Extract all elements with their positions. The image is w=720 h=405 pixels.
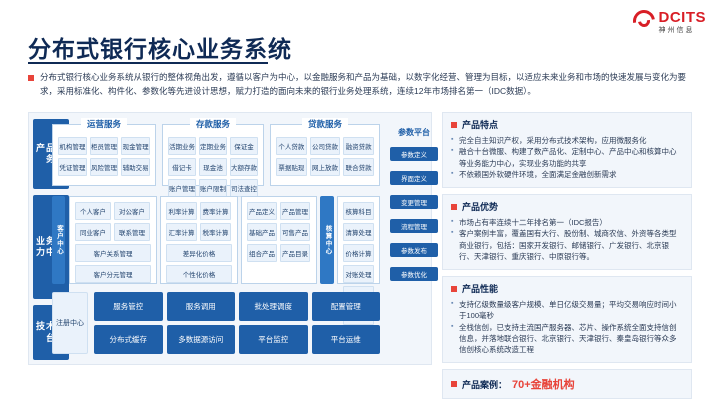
advantage-item: 市场占有率连续十二年排名第一（IDC报告）	[451, 217, 683, 228]
capability-cell: 对公客户	[114, 202, 150, 220]
accounting-center-rail: 核算中心	[320, 196, 334, 284]
zone-cell: 风险管理	[90, 158, 119, 176]
capability-cell: 个人客户	[75, 202, 111, 220]
zone-cell: 融资贷款	[343, 137, 374, 155]
lead-text: 分布式银行核心业务系统从银行的整体视角出发，遵循以客户为中心，以金融服务和产品为…	[40, 70, 692, 98]
zone-cell: 辅助交易	[121, 158, 150, 176]
zone-cell: 司法查控	[230, 179, 258, 197]
feature-item: 不依赖国外软硬件环境，全面满足金融创新需求	[451, 169, 683, 180]
capability-cell: 产品管理	[280, 202, 310, 220]
section-bullet-icon	[451, 204, 457, 210]
zone-operation-service: 运营服务 机构管理 柜员管理 现金管理 凭证管理 风险管理 辅助交易	[52, 124, 156, 186]
capability-cell: 产品定义	[247, 202, 277, 220]
case-title: 产品案例：	[462, 378, 507, 391]
section-product-features: 产品特点 完全自主知识产权，采用分布式技术架构，应用微服务化 融合十台微服、构建…	[442, 112, 692, 188]
platform-button-define-param[interactable]: 参数定义	[390, 147, 438, 161]
brand-name-cn: 神州信息	[659, 27, 707, 34]
capability-cell: 客户关系管理	[75, 244, 151, 262]
zone-cell: 个人贷款	[276, 137, 307, 155]
zone-cell: 柜员管理	[90, 137, 119, 155]
dcits-logo-icon	[633, 10, 655, 32]
zone-cell: 大额存款	[230, 158, 258, 176]
section-bullet-icon	[451, 286, 457, 292]
section-product-cases: 产品案例： 70+金融机构	[442, 369, 692, 399]
section-title: 产品性能	[462, 282, 498, 295]
title-underline	[28, 62, 268, 64]
capability-band: 客户中心 个人客户 对公客户 同业客户 联系管理 客户关系管理 客户分元管理 利…	[52, 196, 380, 284]
zone-cell: 账户限制	[199, 179, 227, 197]
capability-cell: 组合产品	[247, 244, 277, 262]
tech-cell[interactable]: 服务调用	[167, 292, 236, 321]
lead-paragraph: 分布式银行核心业务系统从银行的整体视角出发，遵循以客户为中心，以金融服务和产品为…	[28, 70, 692, 98]
zone-title: 存款服务	[190, 118, 236, 130]
zone-cell: 定期业务	[199, 137, 227, 155]
right-info-column: 产品特点 完全自主知识产权，采用分布式技术架构，应用微服务化 融合十台微服、构建…	[442, 112, 692, 399]
capability-cell: 清算处理	[343, 223, 374, 241]
capability-cell: 联系管理	[114, 223, 150, 241]
zone-cell: 网上放款	[310, 158, 341, 176]
zone-loan-service: 贷款服务 个人贷款 公司贷款 融资贷款 票据贴现 网上放款 联合贷款	[270, 124, 380, 186]
case-value: 70+金融机构	[512, 376, 575, 392]
feature-item: 融合十台微服、构建了数产品化、定制中心、产品中心和核算中心等业务能力中心，实现业…	[451, 146, 683, 169]
capability-cell: 费率计算	[200, 202, 231, 220]
capability-cell: 同业客户	[75, 223, 111, 241]
capability-cell: 客户分元管理	[75, 265, 151, 283]
capability-group-accounting: 核算科目 清算处理 价格计算 对账处理 余额管理 月结分析	[337, 196, 380, 284]
capability-group-customer: 个人客户 对公客户 同业客户 联系管理 客户关系管理 客户分元管理	[69, 196, 157, 284]
page-title: 分布式银行核心业务系统	[28, 30, 292, 64]
section-bullet-icon	[451, 381, 457, 387]
feature-item: 完全自主知识产权，采用分布式技术架构，应用微服务化	[451, 135, 683, 146]
capability-group-product: 产品定义 产品管理 基础产品 可售产品 组合产品 产品目录	[241, 196, 317, 284]
zone-cell: 机构管理	[58, 137, 87, 155]
capability-cell: 汇率计算	[166, 223, 197, 241]
tech-platform-band: 注册中心 服务管控 服务调用 批处理调度 配置管理 分布式缓存 多数据源访问 平…	[52, 292, 380, 354]
section-product-advantages: 产品优势 市场占有率连续十二年排名第一（IDC报告） 客户案例丰富，覆盖国有大行…	[442, 194, 692, 270]
zone-title: 运营服务	[81, 118, 127, 130]
zone-cell: 借记卡	[168, 158, 196, 176]
tech-cell[interactable]: 批处理调度	[239, 292, 308, 321]
capability-cell: 差异化价格	[166, 244, 232, 262]
capability-cell: 基础产品	[247, 223, 277, 241]
zone-cell: 凭证管理	[58, 158, 87, 176]
advantage-item: 客户案例丰富，覆盖国有大行、股份制、城商农信、外资等各类型商业银行，包括：国家开…	[451, 228, 683, 262]
capability-group-pricing: 利率计算 费率计算 汇率计算 税率计算 差异化价格 个性化价格	[160, 196, 238, 284]
tech-cell[interactable]: 分布式缓存	[94, 325, 163, 354]
section-title: 产品优势	[462, 200, 498, 213]
zone-cell: 账户管理	[168, 179, 196, 197]
section-product-performance: 产品性能 支持亿级数量级客户规模、单日亿级交易量；平均交易响应时间小于100毫秒…	[442, 276, 692, 363]
capability-cell: 个性化价格	[166, 265, 232, 283]
platform-button-process-mgmt[interactable]: 流程管理	[390, 219, 438, 233]
section-title: 产品特点	[462, 118, 498, 131]
performance-item: 全栈信创，已支持主流国产服务器、芯片、操作系统全面支持信创信息，并落地联合银行、…	[451, 322, 683, 356]
zone-cell: 现金管理	[121, 137, 150, 155]
bullet-square-icon	[28, 75, 34, 81]
zone-cell: 联合贷款	[343, 158, 374, 176]
tech-cell[interactable]: 配置管理	[312, 292, 381, 321]
capability-cell: 对账处理	[343, 265, 374, 283]
tech-cell[interactable]: 平台运维	[312, 325, 381, 354]
tech-cell[interactable]: 平台监控	[239, 325, 308, 354]
capability-cell: 可售产品	[280, 223, 310, 241]
zone-cell: 票据贴现	[276, 158, 307, 176]
parameter-platform-label: 参数平台	[386, 127, 442, 138]
section-bullet-icon	[451, 122, 457, 128]
platform-button-define-ui[interactable]: 界面定义	[390, 171, 438, 185]
capability-cell: 利率计算	[166, 202, 197, 220]
zone-cell: 现金池	[199, 158, 227, 176]
capability-cell: 产品目录	[280, 244, 310, 262]
registry-center: 注册中心	[52, 292, 88, 354]
capability-cell: 核算科目	[343, 202, 374, 220]
tech-cell[interactable]: 服务管控	[94, 292, 163, 321]
customer-center-rail: 客户中心	[52, 196, 65, 284]
performance-item: 支持亿级数量级客户规模、单日亿级交易量；平均交易响应时间小于100毫秒	[451, 299, 683, 322]
zone-cell: 公司贷款	[310, 137, 341, 155]
tech-cell[interactable]: 多数据源访问	[167, 325, 236, 354]
platform-button-publish[interactable]: 参数发布	[390, 243, 438, 257]
zone-deposit-service: 存款服务 活期业务 定期业务 保证金 借记卡 现金池 大额存款 账户管理 账户限…	[162, 124, 264, 186]
zone-title: 贷款服务	[302, 118, 348, 130]
platform-button-optimize[interactable]: 参数优化	[390, 267, 438, 281]
zone-cell: 活期业务	[168, 137, 196, 155]
brand-name-en: DCITS	[659, 10, 707, 25]
brand-logo: DCITS 神州信息	[633, 10, 707, 34]
platform-button-change-mgmt[interactable]: 变更管理	[390, 195, 438, 209]
capability-cell: 价格计算	[343, 244, 374, 262]
zone-cell: 保证金	[230, 137, 258, 155]
capability-cell: 税率计算	[200, 223, 231, 241]
